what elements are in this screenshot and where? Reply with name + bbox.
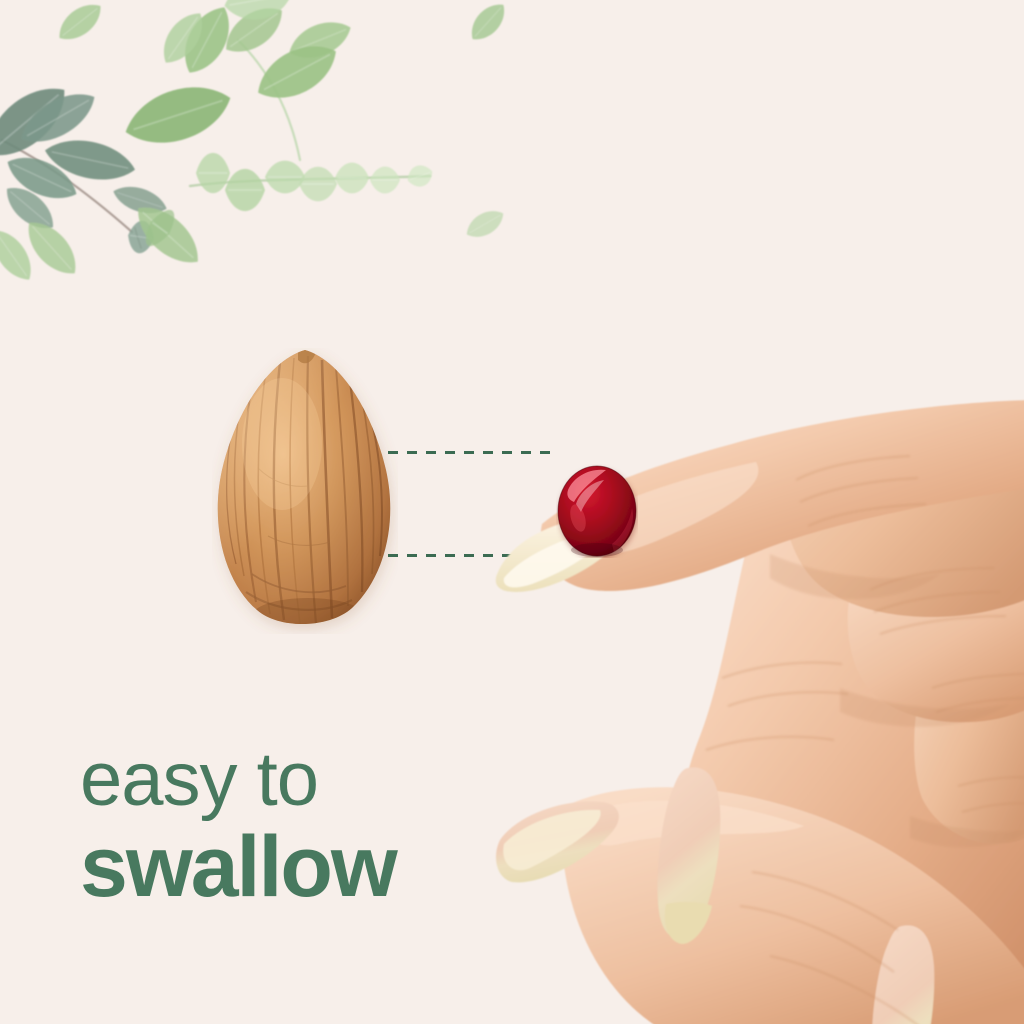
- botanical-leaf: [0, 73, 78, 171]
- botanical-leaf: [284, 13, 357, 66]
- botanical-stem: [190, 176, 430, 186]
- hand-image: [470, 316, 1024, 1024]
- botanical-leaf: [217, 0, 291, 63]
- botanical-leaf: [404, 162, 436, 191]
- botanical-leaf: [0, 223, 40, 288]
- botanical-leaf: [41, 133, 139, 188]
- botanical-leaf: [127, 195, 210, 274]
- botanical-leaf: [462, 204, 509, 243]
- botanical-leaf: [196, 153, 230, 193]
- botanical-leaf: [1, 147, 84, 209]
- botanical-leaf: [248, 33, 346, 112]
- botanical-stems: [2, 40, 430, 248]
- botanical-leaf: [464, 0, 512, 47]
- capsule-image: [556, 464, 638, 558]
- botanical-leaf: [126, 219, 156, 255]
- botanical-leaf: [118, 74, 238, 155]
- botanical-leaf: [139, 204, 181, 251]
- botanical-leaf: [52, 0, 108, 48]
- botanical-leaf: [18, 212, 86, 283]
- headline-line-2: swallow: [80, 824, 396, 910]
- botanical-leaf: [265, 161, 305, 194]
- botanical-leaves: [0, 0, 512, 287]
- botanical-leaf: [221, 0, 295, 25]
- botanical-stem: [135, 228, 141, 248]
- botanical-leaf: [13, 82, 103, 154]
- poster-canvas: easy to swallow: [0, 0, 1024, 1024]
- botanical-stem: [2, 140, 132, 232]
- botanical-leaf: [174, 0, 241, 81]
- botanical-decoration: [0, 0, 560, 300]
- botanical-leaf: [299, 167, 337, 202]
- headline-block: easy to swallow: [80, 742, 396, 910]
- almond-image: [212, 348, 398, 634]
- botanical-leaf: [370, 167, 400, 194]
- botanical-leaf: [335, 163, 369, 194]
- botanical-leaf: [110, 180, 170, 219]
- headline-line-1: easy to: [80, 742, 396, 818]
- botanical-leaf: [154, 5, 212, 71]
- botanical-leaf: [0, 178, 62, 237]
- botanical-stem: [238, 40, 300, 160]
- botanical-leaf: [225, 169, 265, 211]
